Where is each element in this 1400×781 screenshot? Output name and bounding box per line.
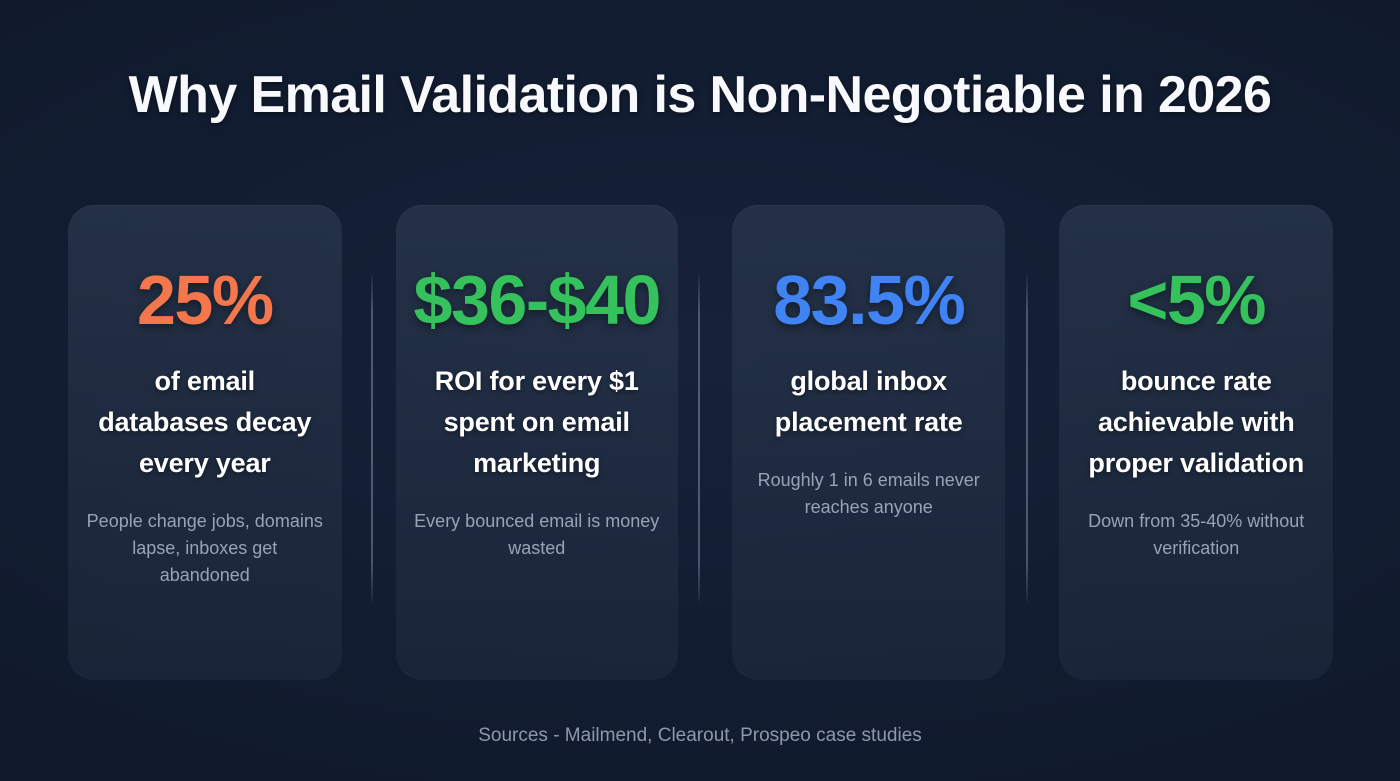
- sources-note: Sources - Mailmend, Clearout, Prospeo ca…: [0, 723, 1400, 749]
- stat-card-row: 25% of email databases decay every year …: [68, 205, 1333, 680]
- stat-value: <5%: [1077, 261, 1315, 339]
- stat-description: Every bounced email is money wasted: [414, 508, 660, 562]
- stat-label: ROI for every $1 spent on email marketin…: [414, 361, 660, 484]
- card-divider: [1026, 274, 1028, 602]
- stat-label: bounce rate achievable with proper valid…: [1077, 361, 1315, 484]
- stat-description: People change jobs, domains lapse, inbox…: [86, 508, 324, 589]
- stat-card: 83.5% global inbox placement rate Roughl…: [732, 205, 1006, 680]
- stat-card: <5% bounce rate achievable with proper v…: [1059, 205, 1333, 680]
- stat-label: of email databases decay every year: [86, 361, 324, 484]
- stat-description: Down from 35-40% without verification: [1077, 508, 1315, 562]
- stat-card: $36-$40 ROI for every $1 spent on email …: [396, 205, 678, 680]
- stat-value: $36-$40: [414, 261, 660, 339]
- infographic-canvas: Why Email Validation is Non-Negotiable i…: [0, 0, 1400, 781]
- card-divider: [698, 274, 700, 602]
- page-title: Why Email Validation is Non-Negotiable i…: [0, 62, 1400, 128]
- card-divider: [371, 274, 373, 602]
- stat-description: Roughly 1 in 6 emails never reaches anyo…: [750, 467, 988, 521]
- stat-value: 83.5%: [750, 261, 988, 339]
- stat-value: 25%: [86, 261, 324, 339]
- stat-label: global inbox placement rate: [750, 361, 988, 443]
- stat-card: 25% of email databases decay every year …: [68, 205, 342, 680]
